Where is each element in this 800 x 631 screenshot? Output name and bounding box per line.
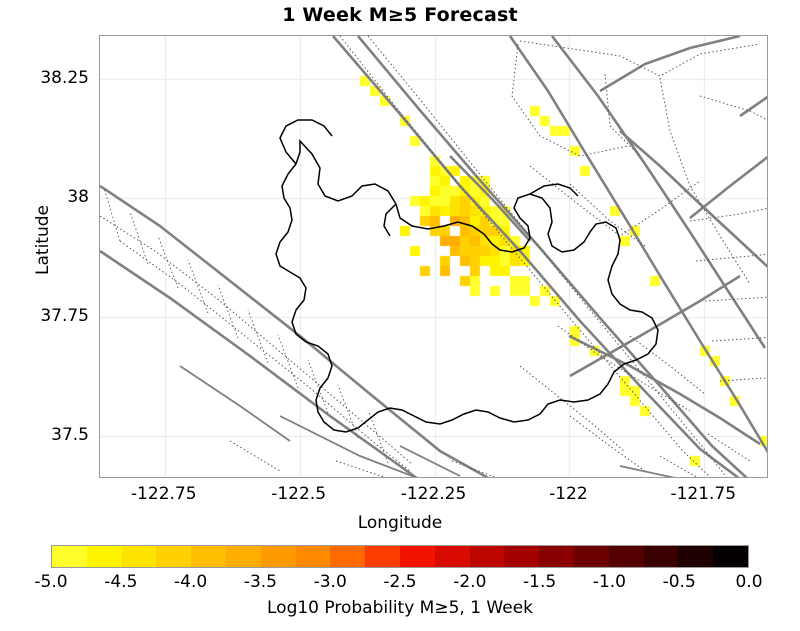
colorbar-band: [156, 546, 191, 567]
x-axis-title: Longitude: [0, 513, 800, 533]
colorbar[interactable]: [51, 545, 749, 568]
colorbar-band: [435, 546, 470, 567]
colorbar-band: [87, 546, 122, 567]
colorbar-band: [226, 546, 261, 567]
colorbar-gradient: [51, 545, 749, 568]
colorbar-tick-label: -5.0: [34, 572, 67, 592]
x-tick-label: -122: [549, 484, 588, 504]
colorbar-title: Log10 Probability M≥5, 1 Week: [0, 598, 800, 618]
colorbar-band: [504, 546, 539, 567]
colorbar-band: [330, 546, 365, 567]
colorbar-tick-label: -3.5: [244, 572, 277, 592]
colorbar-band: [574, 546, 609, 567]
page-title: 1 Week M≥5 Forecast: [0, 4, 800, 26]
colorbar-band: [191, 546, 226, 567]
colorbar-band: [678, 546, 713, 567]
probability-heatmap: [100, 36, 768, 478]
colorbar-tick-label: -1.5: [523, 572, 556, 592]
colorbar-band: [261, 546, 296, 567]
colorbar-tick-label: -2.5: [383, 572, 416, 592]
x-tick-label: -122.25: [401, 484, 467, 504]
y-tick-label: 38.25: [0, 68, 89, 88]
colorbar-band: [539, 546, 574, 567]
y-tick-label: 37.5: [0, 425, 89, 445]
colorbar-tick-label: 0.0: [735, 572, 762, 592]
colorbar-tick-label: -0.5: [663, 572, 696, 592]
colorbar-band: [122, 546, 157, 567]
colorbar-band: [644, 546, 679, 567]
colorbar-band: [365, 546, 400, 567]
colorbar-band: [296, 546, 331, 567]
y-axis-title: Latitude: [33, 160, 53, 320]
colorbar-tick-label: -2.0: [453, 572, 486, 592]
colorbar-band: [713, 546, 748, 567]
colorbar-band: [470, 546, 505, 567]
colorbar-tick-label: -4.0: [174, 572, 207, 592]
colorbar-band: [52, 546, 87, 567]
x-tick-label: -122.75: [131, 484, 197, 504]
x-tick-label: -121.75: [670, 484, 736, 504]
colorbar-tick-label: -3.0: [314, 572, 347, 592]
colorbar-tick-label: -1.0: [593, 572, 626, 592]
colorbar-band: [609, 546, 644, 567]
x-tick-label: -122.5: [271, 484, 326, 504]
colorbar-tick-label: -4.5: [104, 572, 137, 592]
forecast-map-plot[interactable]: [99, 35, 768, 478]
colorbar-band: [400, 546, 435, 567]
